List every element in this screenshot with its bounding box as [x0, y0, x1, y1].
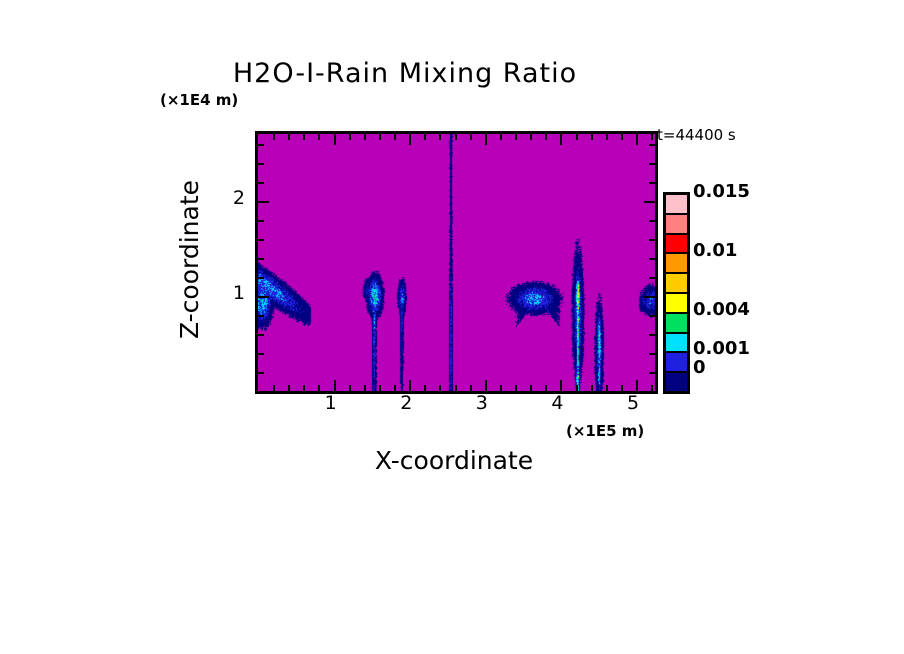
x-tick-top — [606, 134, 608, 140]
y-tick-right — [649, 353, 655, 355]
colorbar-band — [666, 235, 687, 255]
colorbar-band — [666, 254, 687, 274]
x-tick-bottom — [273, 385, 275, 391]
x-tick-bottom — [470, 385, 472, 391]
colorbar-band — [666, 274, 687, 294]
colorbar — [663, 192, 690, 394]
x-tick-bottom — [591, 385, 593, 391]
y-tick-right — [649, 220, 655, 222]
x-tick-top — [500, 134, 502, 140]
x-tick-top — [576, 134, 578, 140]
x-tick-top — [651, 134, 653, 140]
x-tick-label: 4 — [545, 392, 569, 414]
y-tick-left — [258, 296, 269, 298]
x-tick-top — [334, 134, 336, 145]
x-tick-label: 3 — [470, 392, 494, 414]
y-tick-right — [644, 296, 655, 298]
x-tick-top — [545, 134, 547, 140]
y-tick-left — [258, 258, 264, 260]
x-tick-bottom — [636, 380, 638, 391]
y-tick-right — [649, 239, 655, 241]
x-tick-top — [379, 134, 381, 140]
y-tick-left — [258, 144, 264, 146]
y-tick-right — [649, 277, 655, 279]
y-tick-left — [258, 353, 264, 355]
x-tick-bottom — [334, 380, 336, 391]
x-tick-bottom — [379, 385, 381, 391]
x-tick-bottom — [318, 385, 320, 391]
x-tick-top — [439, 134, 441, 140]
x-tick-bottom — [409, 380, 411, 391]
y-tick-left — [258, 277, 264, 279]
x-tick-top — [636, 134, 638, 145]
x-tick-bottom — [560, 380, 562, 391]
x-tick-bottom — [485, 380, 487, 391]
x-tick-bottom — [606, 385, 608, 391]
x-tick-top — [409, 134, 411, 145]
y-tick-right — [644, 201, 655, 203]
x-tick-bottom — [288, 385, 290, 391]
plot-title-text: H2O-I-Rain Mixing Ratio — [233, 58, 577, 89]
y-tick-right — [649, 315, 655, 317]
y-tick-left — [258, 372, 264, 374]
x-tick-top — [318, 134, 320, 140]
colorbar-band — [666, 294, 687, 314]
colorbar-band — [666, 353, 687, 373]
y-axis-title-text: Z-coordinate — [176, 179, 205, 338]
x-tick-top — [560, 134, 562, 145]
x-tick-bottom — [500, 385, 502, 391]
x-tick-top — [591, 134, 593, 140]
x-tick-bottom — [364, 385, 366, 391]
y-tick-label: 2 — [223, 187, 245, 209]
x-tick-top — [621, 134, 623, 140]
x-tick-top — [455, 134, 457, 140]
x-tick-top — [530, 134, 532, 140]
heatmap-canvas — [258, 134, 655, 391]
x-tick-top — [364, 134, 366, 140]
x-tick-top — [515, 134, 517, 140]
x-tick-top — [424, 134, 426, 140]
colorbar-band — [666, 195, 687, 215]
x-tick-bottom — [303, 385, 305, 391]
x-tick-bottom — [424, 385, 426, 391]
x-tick-bottom — [545, 385, 547, 391]
x-tick-label: 1 — [319, 392, 343, 414]
x-tick-bottom — [515, 385, 517, 391]
x-tick-bottom — [651, 385, 653, 391]
x-tick-bottom — [576, 385, 578, 391]
y-tick-right — [649, 258, 655, 260]
colorbar-tick-label: 0.001 — [693, 338, 750, 359]
x-tick-bottom — [394, 385, 396, 391]
y-tick-right — [649, 163, 655, 165]
y-tick-right — [649, 334, 655, 336]
x-tick-top — [273, 134, 275, 140]
x-tick-label: 5 — [621, 392, 645, 414]
x-axis-title: X-coordinate — [255, 446, 653, 475]
y-unit-label: (×1E4 m) — [160, 91, 238, 109]
colorbar-band — [666, 215, 687, 235]
x-tick-bottom — [530, 385, 532, 391]
x-tick-bottom — [439, 385, 441, 391]
page-title: H2O-I-Rain Mixing Ratio — [0, 58, 904, 89]
x-tick-bottom — [349, 385, 351, 391]
plot-area — [255, 131, 658, 394]
colorbar-band — [666, 373, 687, 391]
figure-root: H2O-I-Rain Mixing Ratio (×1E4 m) t=44400… — [0, 0, 904, 654]
x-tick-top — [485, 134, 487, 145]
x-tick-top — [303, 134, 305, 140]
y-tick-right — [649, 372, 655, 374]
y-tick-left — [258, 220, 264, 222]
y-tick-left — [258, 163, 264, 165]
colorbar-band — [666, 334, 687, 354]
y-tick-left — [258, 239, 264, 241]
x-tick-top — [349, 134, 351, 140]
y-tick-left — [258, 315, 264, 317]
x-tick-top — [394, 134, 396, 140]
y-tick-right — [649, 144, 655, 146]
x-tick-top — [288, 134, 290, 140]
x-tick-bottom — [621, 385, 623, 391]
y-tick-left — [258, 201, 269, 203]
colorbar-tick-label: 0 — [693, 357, 706, 378]
y-tick-right — [649, 182, 655, 184]
y-axis-title: Z-coordinate — [175, 130, 205, 388]
x-tick-bottom — [455, 385, 457, 391]
colorbar-band — [666, 314, 687, 334]
x-tick-top — [470, 134, 472, 140]
colorbar-tick-label: 0.015 — [693, 181, 750, 202]
time-annotation: t=44400 s — [657, 126, 736, 144]
x-tick-label: 2 — [394, 392, 418, 414]
x-unit-label: (×1E5 m) — [566, 422, 644, 440]
y-tick-left — [258, 182, 264, 184]
colorbar-tick-label: 0.004 — [693, 299, 750, 320]
colorbar-tick-label: 0.01 — [693, 240, 737, 261]
y-tick-label: 1 — [223, 282, 245, 304]
y-tick-left — [258, 334, 264, 336]
